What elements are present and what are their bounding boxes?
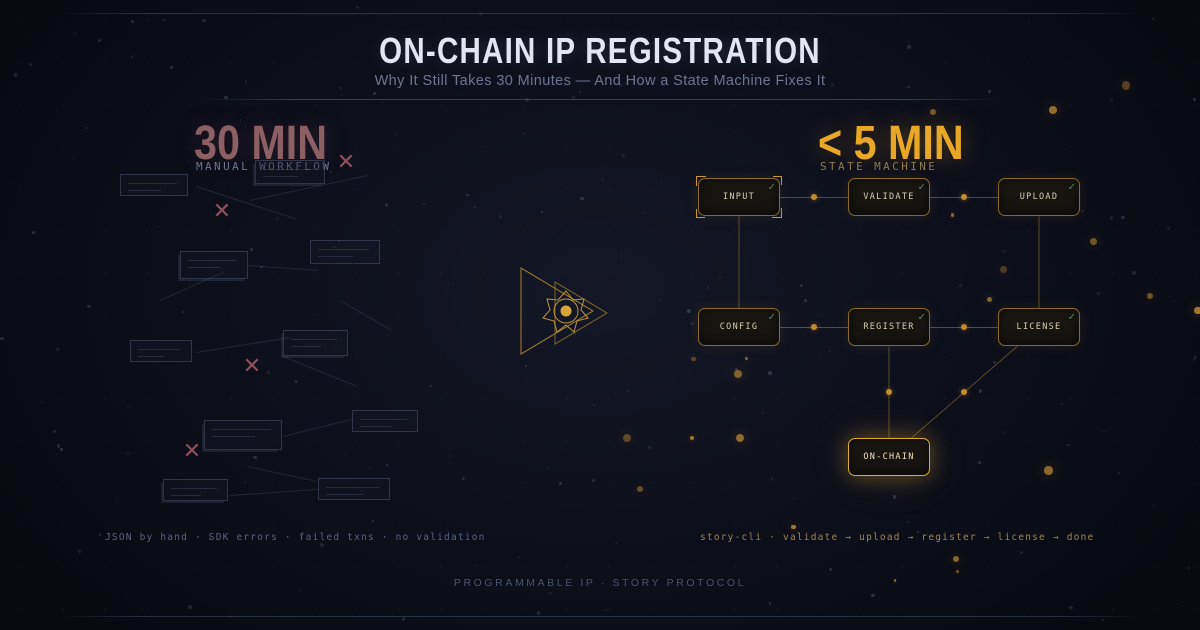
background-particle bbox=[525, 365, 527, 367]
background-particle bbox=[592, 479, 595, 482]
background-particle bbox=[554, 233, 556, 235]
background-particle bbox=[620, 255, 622, 257]
state-node-label: CONFIG bbox=[699, 309, 779, 345]
state-edge-marker bbox=[961, 389, 967, 395]
statemachine-footer: story-cli · validate → upload → register… bbox=[700, 532, 1094, 543]
state-node-validate[interactable]: VALIDATE✓ bbox=[848, 178, 930, 216]
chaos-placeholder-box bbox=[163, 479, 228, 501]
chaos-placeholder-box bbox=[255, 160, 325, 184]
state-node-license[interactable]: LICENSE✓ bbox=[998, 308, 1080, 346]
chaos-connector-line bbox=[247, 466, 316, 482]
state-node-label: VALIDATE bbox=[849, 179, 929, 215]
chaos-connector-line bbox=[340, 300, 392, 331]
chaos-connector-line bbox=[196, 186, 296, 219]
chaos-placeholder-box bbox=[120, 174, 188, 196]
background-particle bbox=[627, 390, 629, 392]
chaos-connector-line bbox=[283, 419, 353, 437]
background-particle bbox=[622, 154, 625, 157]
state-node-input[interactable]: INPUT✓ bbox=[698, 178, 780, 216]
state-edge-upload-to-license bbox=[1039, 217, 1040, 309]
error-x-icon: ✕ bbox=[242, 356, 262, 376]
chaos-connector-line bbox=[248, 265, 318, 271]
state-edge-marker bbox=[961, 194, 967, 200]
state-node-upload[interactable]: UPLOAD✓ bbox=[998, 178, 1080, 216]
background-particle bbox=[559, 482, 562, 485]
background-particle bbox=[579, 91, 581, 93]
error-x-icon: ✕ bbox=[182, 441, 202, 461]
state-edge-marker bbox=[811, 194, 817, 200]
background-particle bbox=[541, 211, 543, 213]
background-particle bbox=[547, 467, 550, 470]
state-edge-marker bbox=[886, 389, 892, 395]
chaos-connector-line bbox=[230, 489, 318, 496]
state-node-label: INPUT bbox=[699, 179, 779, 215]
background-particle bbox=[523, 133, 524, 134]
chaos-placeholder-box bbox=[318, 478, 390, 500]
poster-canvas: ON-CHAIN IP REGISTRATION Why It Still Ta… bbox=[0, 0, 1200, 630]
state-node-label: LICENSE bbox=[999, 309, 1079, 345]
brand-footer: PROGRAMMABLE IP · STORY PROTOCOL bbox=[0, 577, 1200, 589]
node-corner-bracket bbox=[696, 209, 705, 218]
check-icon: ✓ bbox=[918, 181, 925, 192]
chaos-placeholder-box bbox=[130, 340, 192, 362]
state-node-config[interactable]: CONFIG✓ bbox=[698, 308, 780, 346]
background-particle bbox=[601, 178, 604, 181]
state-node-label: REGISTER bbox=[849, 309, 929, 345]
error-x-icon: ✕ bbox=[212, 201, 232, 221]
chaos-placeholder-box bbox=[352, 410, 418, 432]
chaos-connector-line bbox=[283, 356, 358, 387]
story-protocol-logo bbox=[519, 258, 614, 363]
manual-workflow-footer: JSON by hand · SDK errors · failed txns … bbox=[105, 532, 486, 543]
statemachine-label: STATE MACHINE bbox=[820, 160, 937, 173]
background-particle bbox=[593, 404, 595, 406]
chaos-placeholder-box bbox=[204, 420, 282, 450]
state-edge-input-to-config bbox=[739, 217, 740, 309]
state-node-label: ON-CHAIN bbox=[849, 439, 929, 475]
state-edge-marker bbox=[961, 324, 967, 330]
error-x-icon: ✕ bbox=[336, 152, 356, 172]
background-particle bbox=[549, 592, 552, 595]
background-particle bbox=[580, 197, 584, 201]
state-node-onchain[interactable]: ON-CHAIN bbox=[848, 438, 930, 476]
background-particle bbox=[615, 542, 619, 546]
background-particle bbox=[623, 434, 631, 442]
state-node-register[interactable]: REGISTER✓ bbox=[848, 308, 930, 346]
chaos-placeholder-box bbox=[310, 240, 380, 264]
state-edge-marker bbox=[811, 324, 817, 330]
background-particle bbox=[537, 611, 540, 614]
check-icon: ✓ bbox=[1068, 181, 1075, 192]
node-corner-bracket bbox=[773, 176, 782, 185]
chaos-connector-line bbox=[196, 337, 290, 353]
check-icon: ✓ bbox=[918, 311, 925, 322]
check-icon: ✓ bbox=[1068, 311, 1075, 322]
background-particle bbox=[606, 609, 608, 611]
state-node-label: UPLOAD bbox=[999, 179, 1079, 215]
check-icon: ✓ bbox=[768, 311, 775, 322]
chaos-placeholder-box bbox=[283, 330, 348, 356]
